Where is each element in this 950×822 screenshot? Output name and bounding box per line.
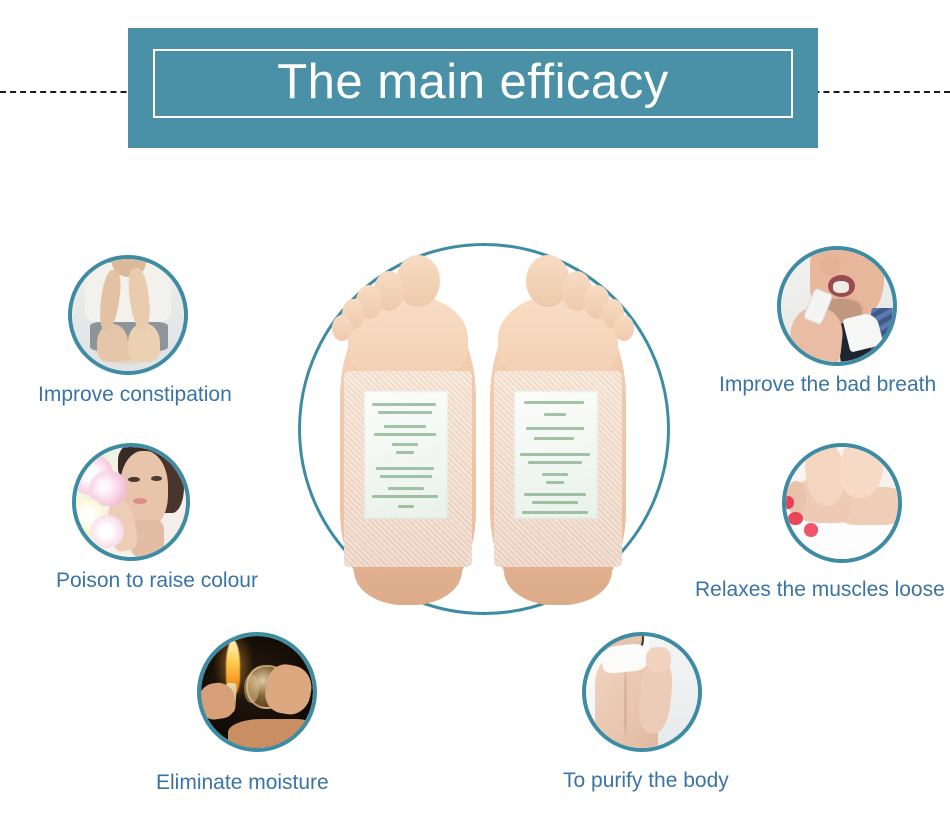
benefit-moisture-label: Eliminate moisture	[156, 771, 329, 794]
foot-massage-photo	[786, 447, 898, 559]
breath-photo-circle	[777, 246, 897, 366]
colour-photo-circle	[72, 443, 190, 561]
benefit-colour-label: Poison to raise colour	[56, 569, 258, 592]
man-breath-spray-photo	[781, 250, 893, 362]
moisture-photo-circle	[197, 632, 317, 752]
benefit-constipation-label: Improve constipation	[38, 383, 232, 406]
benefit-muscles-label: Relaxes the muscles loose	[695, 578, 945, 601]
infographic-page: The main efficacy	[0, 0, 950, 822]
benefit-purify-label: To purify the body	[563, 769, 729, 792]
detox-foot-patch-photo	[340, 255, 630, 605]
page-title: The main efficacy	[277, 58, 669, 107]
fire-cupping-therapy-photo	[201, 636, 313, 748]
purify-photo-circle	[582, 632, 702, 752]
foot-patch-sachet	[514, 391, 598, 519]
person-hugging-knees-photo	[72, 259, 184, 371]
muscles-photo-circle	[782, 443, 902, 563]
title-banner: The main efficacy	[128, 28, 818, 148]
constipation-photo-circle	[68, 255, 188, 375]
right-foot-sole	[490, 255, 626, 605]
benefit-breath-label: Improve the bad breath	[719, 373, 936, 396]
left-foot-sole	[340, 255, 476, 605]
woman-with-flowers-photo	[76, 447, 186, 557]
title-inner-border: The main efficacy	[153, 49, 793, 118]
woman-bare-back-photo	[586, 636, 698, 748]
foot-patch-sachet	[364, 391, 448, 519]
